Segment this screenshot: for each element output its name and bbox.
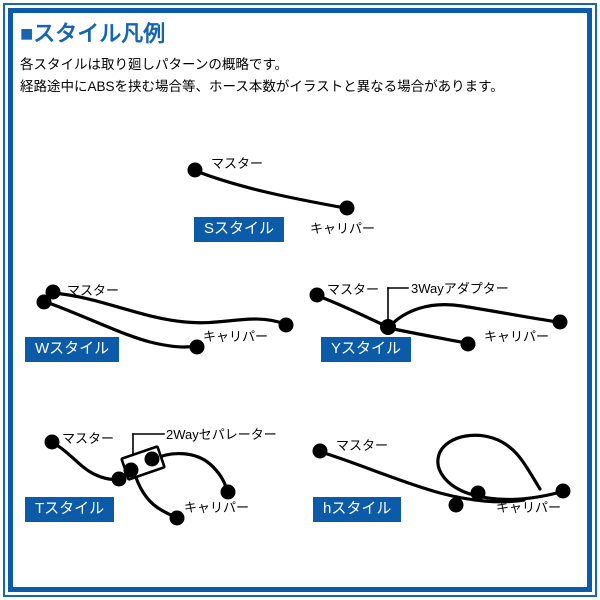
- master-label: マスター: [62, 431, 114, 446]
- master-node: [188, 163, 203, 178]
- badge-t-style: Tスタイル: [25, 497, 114, 522]
- hose-line-branch-down: [134, 471, 176, 517]
- separator-outlet-node: [145, 452, 160, 467]
- caliper-node-2: [170, 511, 185, 526]
- caliper-node-1: [556, 484, 571, 499]
- master-node: [313, 444, 328, 459]
- caliper-label: キャリパー: [203, 329, 268, 344]
- caliper-label: キャリパー: [310, 221, 375, 236]
- caliper-node-1: [279, 318, 294, 333]
- separator-inlet-node: [124, 463, 139, 478]
- hose-line: [196, 171, 345, 208]
- hose-line-branch-upper: [389, 305, 558, 327]
- badge-w-style: Wスタイル: [25, 337, 119, 362]
- caliper-node-1: [553, 315, 568, 330]
- caliper-node-3: [449, 498, 464, 513]
- style-legend-page: ■スタイル凡例 各スタイルは取り廻しパターンの概略です。 経路途中にABSを挟む…: [0, 0, 600, 600]
- master-node-2: [37, 295, 52, 310]
- master-label: マスター: [336, 438, 388, 453]
- adapter-label: 3Wayアダプター: [411, 281, 509, 296]
- hose-line-loop: [438, 435, 561, 499]
- badge-y-style: Yスタイル: [321, 337, 411, 362]
- caliper-label: キャリパー: [496, 500, 561, 515]
- caliper-node-1: [221, 485, 236, 500]
- caliper-label: キャリパー: [484, 329, 549, 344]
- hose-line-master: [321, 452, 524, 502]
- caliper-node: [340, 201, 355, 216]
- caliper-node-2: [471, 486, 486, 501]
- master-label: マスター: [327, 282, 379, 297]
- master-label: マスター: [67, 283, 119, 298]
- caliper-node-2: [461, 337, 476, 352]
- adapter-node: [380, 319, 396, 335]
- master-label: マスター: [211, 156, 263, 171]
- master-node: [310, 288, 325, 303]
- hose-line-master: [318, 296, 386, 326]
- hose-line-branch-right: [152, 454, 227, 491]
- badge-s-style: Sスタイル: [194, 217, 284, 242]
- master-node: [45, 435, 60, 450]
- junction-node: [112, 472, 127, 487]
- caliper-label: キャリパー: [184, 500, 249, 515]
- hose-line-master: [53, 443, 118, 479]
- badge-h-style: hスタイル: [313, 497, 401, 522]
- separator-label: 2Wayセパレーター: [166, 427, 277, 442]
